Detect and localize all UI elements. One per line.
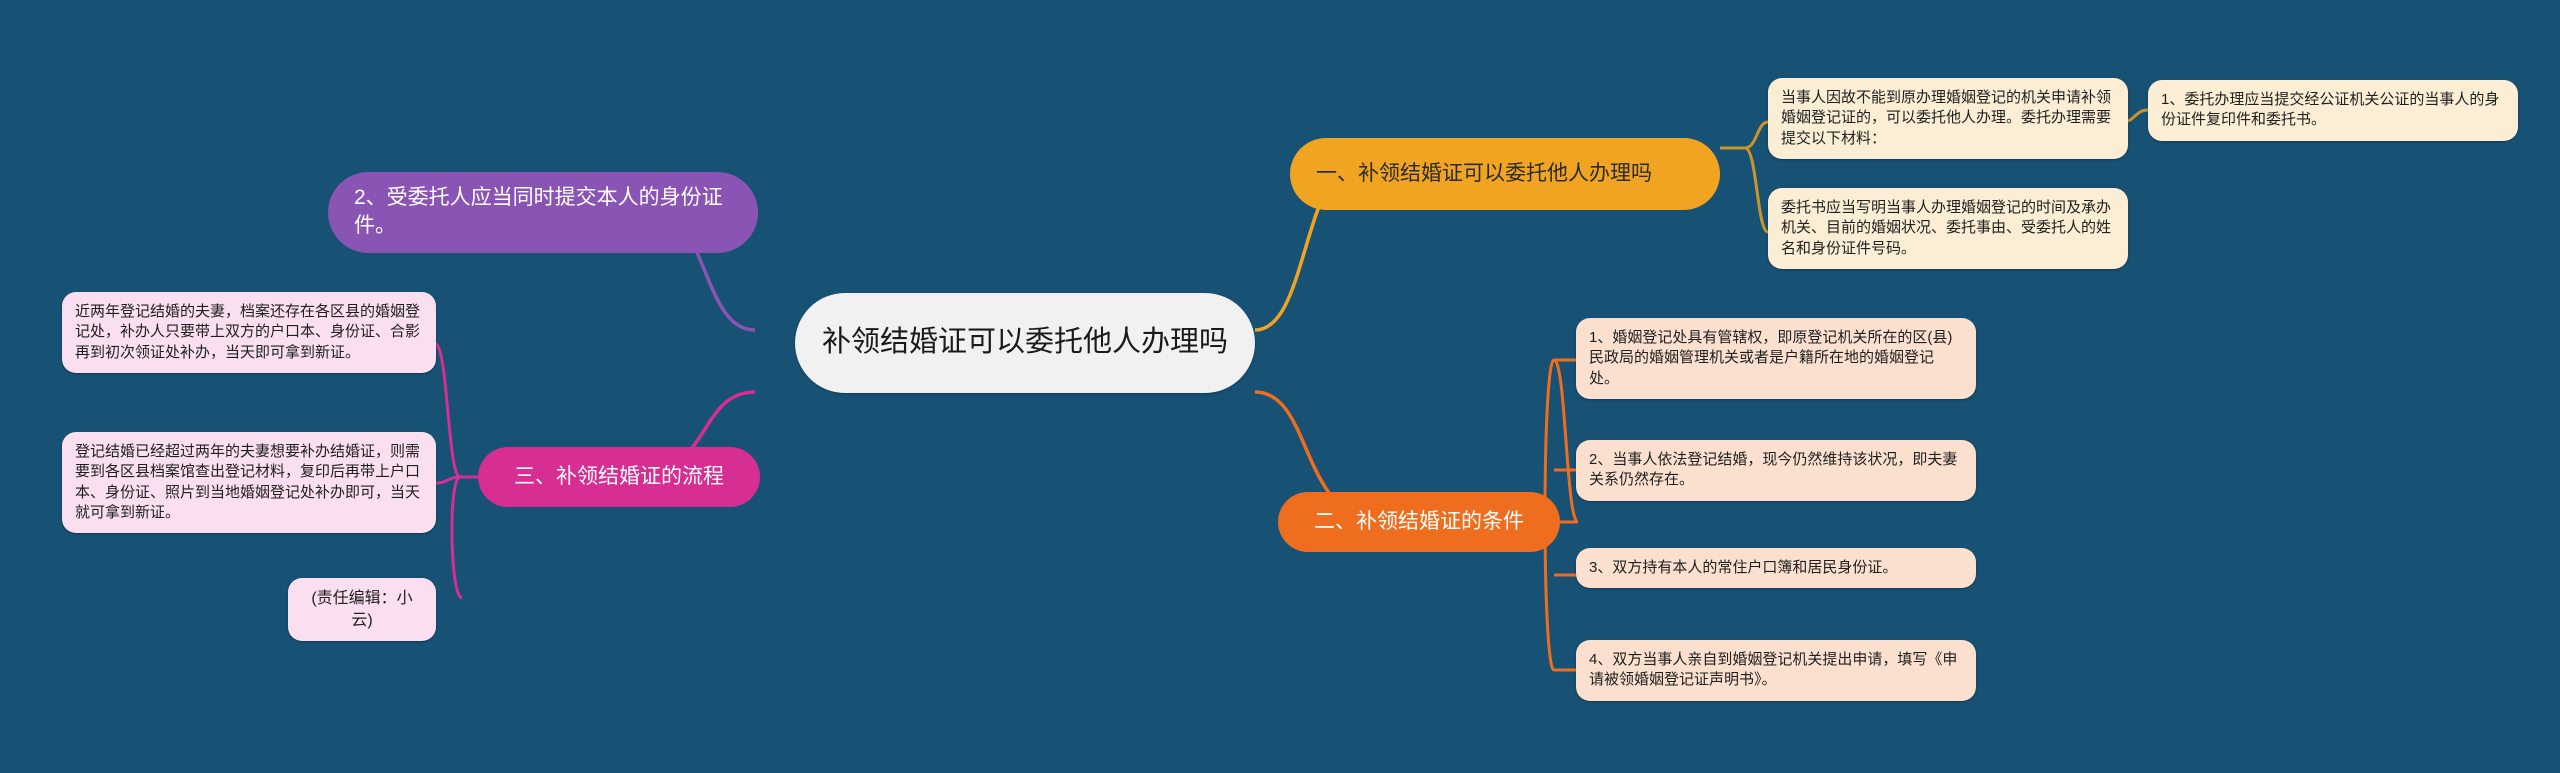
branch-node-1[interactable]: 一、补领结婚证可以委托他人办理吗 (1290, 138, 1720, 210)
branch-node-4-label: 二、补领结婚证的条件 (1304, 508, 1534, 536)
leaf-b4-c1-label: 1、婚姻登记处具有管辖权，即原登记机关所在的区(县)民政局的婚姻管理机关或者是户… (1589, 328, 1963, 389)
leaf-b4-c2[interactable]: 2、当事人依法登记结婚，现今仍然维持该状况，即夫妻关系仍然存在。 (1576, 440, 1976, 501)
leaf-b3-c1-label: 近两年登记结婚的夫妻，档案还存在各区县的婚姻登记处，补办人只要带上双方的户口本、… (75, 302, 423, 363)
root-node-label: 补领结婚证可以委托他人办理吗 (821, 323, 1229, 362)
leaf-b3-c3[interactable]: (责任编辑：小云) (288, 578, 436, 641)
leaf-b4-c3[interactable]: 3、双方持有本人的常住户口簿和居民身份证。 (1576, 548, 1976, 588)
leaf-b3-c1[interactable]: 近两年登记结婚的夫妻，档案还存在各区县的婚姻登记处，补办人只要带上双方的户口本、… (62, 292, 436, 373)
branch-node-4[interactable]: 二、补领结婚证的条件 (1278, 492, 1560, 552)
root-node[interactable]: 补领结婚证可以委托他人办理吗 (795, 293, 1255, 393)
mindmap-canvas: 补领结婚证可以委托他人办理吗 一、补领结婚证可以委托他人办理吗 当事人因故不能到… (0, 0, 2560, 773)
link-b4-spine (1554, 360, 1578, 522)
leaf-b4-c3-label: 3、双方持有本人的常住户口簿和居民身份证。 (1589, 558, 1963, 578)
leaf-b4-c4[interactable]: 4、双方当事人亲自到婚姻登记机关提出申请，填写《申请被领婚姻登记证声明书》。 (1576, 640, 1976, 701)
leaf-b1-c2[interactable]: 委托书应当写明当事人办理婚姻登记的时间及承办机关、目前的婚姻状况、委托事由、受委… (1768, 188, 2128, 269)
link-b3-to-c1 (436, 344, 460, 477)
leaf-b4-c1[interactable]: 1、婚姻登记处具有管辖权，即原登记机关所在的区(县)民政局的婚姻管理机关或者是户… (1576, 318, 1976, 399)
leaf-b3-c2[interactable]: 登记结婚已经超过两年的夫妻想要补办结婚证，则需要到各区县档案馆查出登记材料，复印… (62, 432, 436, 533)
branch-node-1-label: 一、补领结婚证可以委托他人办理吗 (1316, 160, 1694, 188)
leaf-b1-c1-g1-label: 1、委托办理应当提交经公证机关公证的当事人的身份证件复印件和委托书。 (2161, 90, 2505, 131)
branch-node-2-label: 2、受委托人应当同时提交本人的身份证件。 (354, 184, 732, 241)
branch-node-3[interactable]: 三、补领结婚证的流程 (478, 447, 760, 507)
leaf-b1-c1[interactable]: 当事人因故不能到原办理婚姻登记的机关申请补领婚姻登记证的，可以委托他人办理。委托… (1768, 78, 2128, 159)
leaf-b3-c2-label: 登记结婚已经超过两年的夫妻想要补办结婚证，则需要到各区县档案馆查出登记材料，复印… (75, 442, 423, 523)
leaf-b4-c2-label: 2、当事人依法登记结婚，现今仍然维持该状况，即夫妻关系仍然存在。 (1589, 450, 1963, 491)
leaf-b1-c1-g1[interactable]: 1、委托办理应当提交经公证机关公证的当事人的身份证件复印件和委托书。 (2148, 80, 2518, 141)
link-b1-to-c2 (1745, 148, 1768, 232)
leaf-b1-c2-label: 委托书应当写明当事人办理婚姻登记的时间及承办机关、目前的婚姻状况、委托事由、受委… (1781, 198, 2115, 259)
leaf-b3-c3-label: (责任编辑：小云) (301, 588, 423, 631)
link-b1-to-c1 (1745, 122, 1768, 148)
branch-node-3-label: 三、补领结婚证的流程 (504, 463, 734, 491)
leaf-b4-c4-label: 4、双方当事人亲自到婚姻登记机关提出申请，填写《申请被领婚姻登记证声明书》。 (1589, 650, 1963, 691)
branch-node-2[interactable]: 2、受委托人应当同时提交本人的身份证件。 (328, 172, 758, 253)
link-b3-to-c3 (452, 477, 462, 598)
leaf-b1-c1-label: 当事人因故不能到原办理婚姻登记的机关申请补领婚姻登记证的，可以委托他人办理。委托… (1781, 88, 2115, 149)
link-b3-to-c2 (436, 477, 460, 483)
